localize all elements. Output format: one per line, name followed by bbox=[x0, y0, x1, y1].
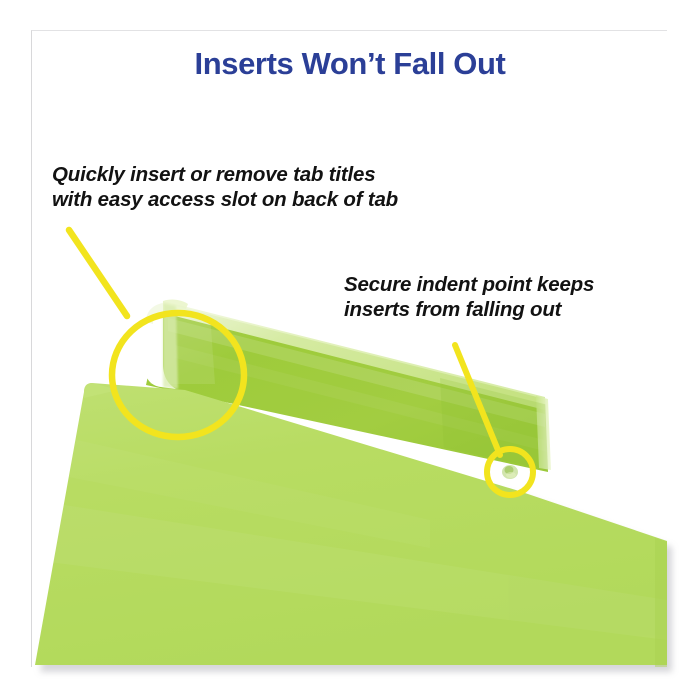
product-feature-image: Inserts Won’t Fall Out Quickly insert or… bbox=[0, 0, 700, 700]
page-title: Inserts Won’t Fall Out bbox=[0, 46, 700, 82]
callout-label-indent-point: Secure indent point keeps inserts from f… bbox=[344, 272, 594, 322]
secure-indent-point bbox=[502, 465, 518, 479]
callout-label-access-slot: Quickly insert or remove tab titles with… bbox=[52, 162, 398, 212]
leader-line-left bbox=[69, 230, 127, 316]
product-photo bbox=[0, 0, 700, 700]
